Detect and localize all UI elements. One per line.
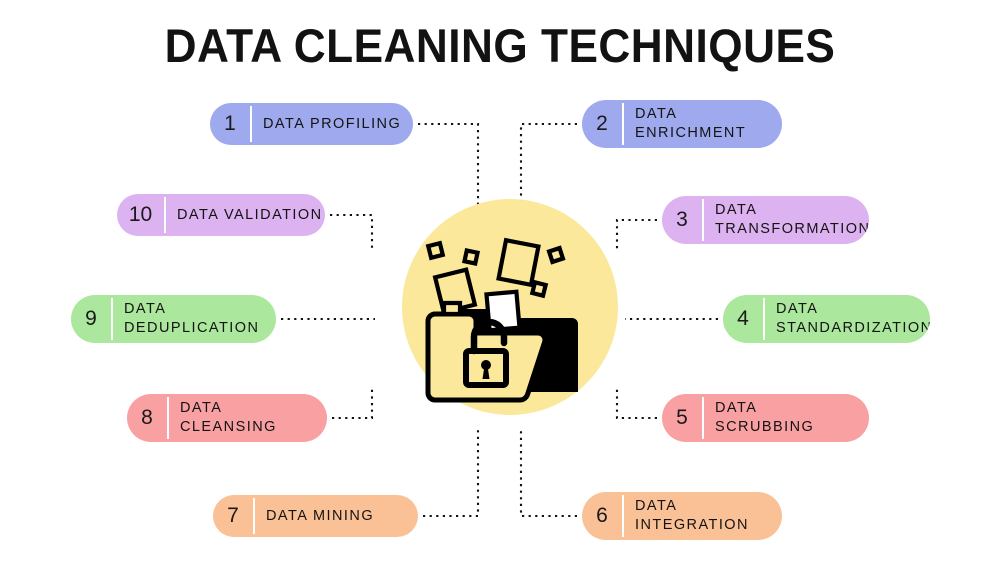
pill-number-9: 9 — [71, 295, 111, 343]
pill-label-1: DATA PROFILING — [252, 103, 413, 145]
pill-label-4-line2: STANDARDIZATION — [776, 319, 930, 338]
pill-label-9-line2: DEDUPLICATION — [124, 319, 266, 338]
pill-label-8: DATA CLEANSING — [169, 394, 327, 442]
pill-label-8-line1: DATA — [180, 399, 317, 418]
pill-label-8-line2: CLEANSING — [180, 418, 317, 437]
technique-pill-9[interactable]: 9 DATA DEDUPLICATION — [71, 295, 276, 343]
technique-pill-2[interactable]: 2 DATA ENRICHMENT — [582, 100, 782, 148]
folder-unlock-documents-icon — [402, 199, 618, 415]
technique-pill-3[interactable]: 3 DATA TRANSFORMATION — [662, 196, 869, 244]
connector-3 — [617, 220, 657, 252]
pill-number-7: 7 — [213, 495, 253, 537]
connector-8 — [332, 386, 372, 418]
pill-label-7: DATA MINING — [255, 495, 418, 537]
pill-label-6-line2: INTEGRATION — [635, 516, 772, 535]
pill-number-5: 5 — [662, 394, 702, 442]
technique-pill-5[interactable]: 5 DATA SCRUBBING — [662, 394, 869, 442]
pill-label-6-line1: DATA — [635, 497, 772, 516]
pill-label-2-line2: ENRICHMENT — [635, 124, 772, 143]
pill-label-3-line2: TRANSFORMATION — [715, 220, 869, 239]
pill-number-6: 6 — [582, 492, 622, 540]
pill-number-2: 2 — [582, 100, 622, 148]
technique-pill-6[interactable]: 6 DATA INTEGRATION — [582, 492, 782, 540]
pill-label-5-line1: DATA — [715, 399, 859, 418]
connector-1 — [418, 124, 478, 205]
pill-label-7-line1: DATA MINING — [266, 509, 408, 524]
technique-pill-1[interactable]: 1 DATA PROFILING — [210, 103, 413, 145]
infographic-canvas: DATA CLEANING TECHNIQUES — [0, 0, 1000, 563]
pill-label-4: DATA STANDARDIZATION — [765, 295, 930, 343]
connector-10 — [330, 215, 372, 252]
pill-label-1-line1: DATA PROFILING — [263, 117, 403, 132]
pill-number-1: 1 — [210, 103, 250, 145]
technique-pill-8[interactable]: 8 DATA CLEANSING — [127, 394, 327, 442]
pill-label-6: DATA INTEGRATION — [624, 492, 782, 540]
pill-label-2: DATA ENRICHMENT — [624, 100, 782, 148]
pill-label-4-line1: DATA — [776, 300, 930, 319]
pill-number-3: 3 — [662, 196, 702, 244]
pill-label-2-line1: DATA — [635, 105, 772, 124]
pill-label-3: DATA TRANSFORMATION — [704, 196, 869, 244]
technique-pill-7[interactable]: 7 DATA MINING — [213, 495, 418, 537]
pill-label-9-line1: DATA — [124, 300, 266, 319]
pill-label-10-line1: DATA VALIDATION — [177, 208, 323, 223]
connector-6 — [521, 430, 577, 516]
connector-7 — [423, 430, 478, 516]
pill-number-4: 4 — [723, 295, 763, 343]
pill-label-5-line2: SCRUBBING — [715, 418, 859, 437]
technique-pill-10[interactable]: 10 DATA VALIDATION — [117, 194, 325, 236]
pill-label-3-line1: DATA — [715, 201, 869, 220]
pill-label-10: DATA VALIDATION — [166, 194, 325, 236]
pill-number-8: 8 — [127, 394, 167, 442]
connector-5 — [617, 386, 657, 418]
connector-2 — [521, 124, 577, 205]
pill-label-9: DATA DEDUPLICATION — [113, 295, 276, 343]
technique-pill-4[interactable]: 4 DATA STANDARDIZATION — [723, 295, 930, 343]
pill-number-10: 10 — [117, 194, 164, 236]
pill-label-5: DATA SCRUBBING — [704, 394, 869, 442]
